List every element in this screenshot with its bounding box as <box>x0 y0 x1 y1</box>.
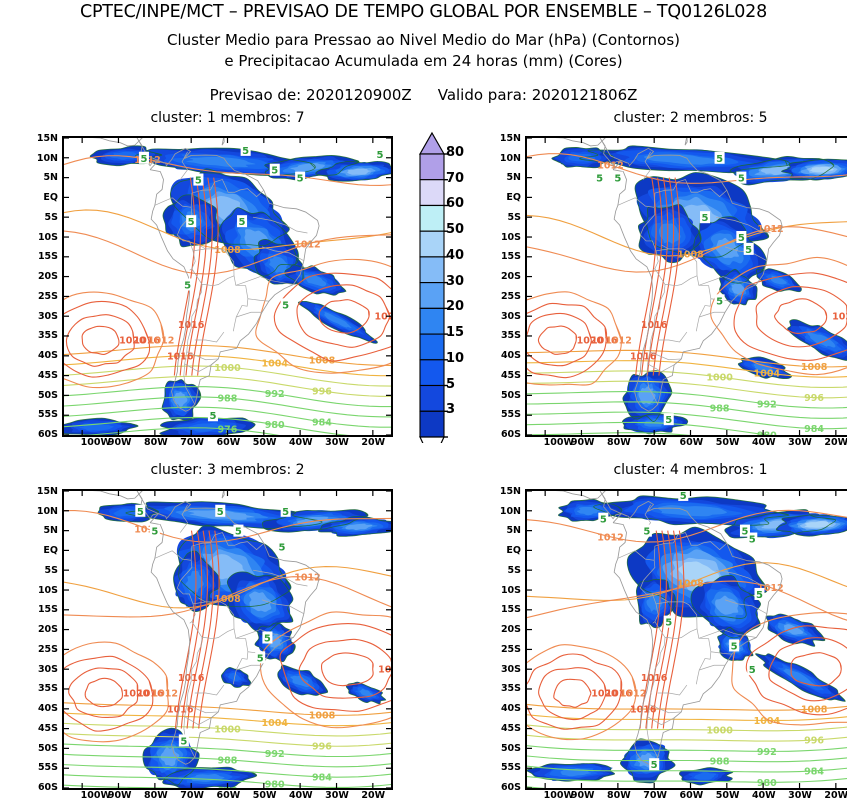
y-tick-label: 10S <box>501 586 521 595</box>
svg-text:1000: 1000 <box>706 373 733 384</box>
svg-text:5: 5 <box>297 174 304 185</box>
x-tick-label: 60W <box>680 791 704 800</box>
x-tick-label: 70W <box>643 791 667 800</box>
svg-text:984: 984 <box>804 424 824 435</box>
svg-text:1012: 1012 <box>620 688 646 699</box>
x-tick-label: 30W <box>325 791 349 800</box>
svg-text:5: 5 <box>749 535 756 546</box>
svg-text:980: 980 <box>757 430 777 435</box>
x-tick-label: 40W <box>752 438 776 447</box>
map-canvas-3: 9769809849889929961000100410081020101610… <box>64 491 391 788</box>
y-tick-label: 5N <box>43 173 58 182</box>
svg-text:5: 5 <box>749 665 756 676</box>
svg-text:1008: 1008 <box>801 362 828 373</box>
svg-text:1008: 1008 <box>309 711 336 722</box>
y-tick-label: 20S <box>38 272 58 281</box>
map-panel-cluster-2[interactable]: 9769809849889929961000100410081020101610… <box>525 136 847 437</box>
svg-text:988: 988 <box>218 394 238 405</box>
y-tick-label: 5S <box>45 213 58 222</box>
y-tick-label: 30S <box>38 312 58 321</box>
y-tick-label: 50S <box>38 744 58 753</box>
page-title: CPTEC/INPE/MCT – PREVISAO DE TEMPO GLOBA… <box>0 2 847 22</box>
y-tick-label: 15S <box>501 605 521 614</box>
y-tick-label: 60S <box>38 783 58 792</box>
y-tick-label: 60S <box>38 430 58 439</box>
svg-text:1012: 1012 <box>294 240 320 251</box>
svg-text:5: 5 <box>184 281 191 292</box>
x-tick-label: 70W <box>180 438 204 447</box>
y-tick-label: 10S <box>501 233 521 242</box>
colorbar-tick-label: 40 <box>446 250 464 262</box>
svg-text:5: 5 <box>702 213 709 224</box>
y-tick-label: 35S <box>38 331 58 340</box>
y-tick-label: 40S <box>38 704 58 713</box>
colorbar-tick-label: 15 <box>446 327 464 339</box>
svg-text:992: 992 <box>757 747 777 758</box>
x-tick-label: 90W <box>571 438 595 447</box>
y-tick-label: 45S <box>38 724 58 733</box>
panel-title-cluster-2: cluster: 2 membros: 5 <box>525 110 847 126</box>
y-tick-label: 30S <box>501 312 521 321</box>
x-tick-label: 100W <box>544 791 574 800</box>
svg-text:5: 5 <box>643 527 650 538</box>
svg-text:988: 988 <box>710 403 730 414</box>
svg-text:5: 5 <box>665 618 672 629</box>
y-tick-label: 45S <box>38 371 58 380</box>
svg-text:5: 5 <box>377 150 384 161</box>
y-tick-label: 45S <box>501 371 521 380</box>
colorbar-tick-label: 10 <box>446 353 464 365</box>
colorbar-tick-label: 50 <box>446 224 464 236</box>
x-axis-labels-panel-1: 100W90W80W70W60W50W40W30W20W <box>62 438 393 452</box>
svg-text:1020: 1020 <box>832 312 847 323</box>
x-tick-label: 50W <box>716 438 740 447</box>
svg-text:5: 5 <box>614 174 621 185</box>
y-tick-label: 5S <box>508 213 521 222</box>
svg-text:5: 5 <box>195 176 202 187</box>
x-axis-labels-panel-2: 100W90W80W70W60W50W40W30W20W <box>525 438 847 452</box>
svg-text:5: 5 <box>278 542 285 553</box>
y-tick-label: 50S <box>501 744 521 753</box>
svg-text:5: 5 <box>271 166 278 177</box>
y-tick-label: 20S <box>38 625 58 634</box>
svg-text:5: 5 <box>680 491 687 502</box>
y-tick-label: 10N <box>37 154 58 163</box>
svg-text:996: 996 <box>804 736 824 747</box>
svg-text:1020: 1020 <box>378 665 391 676</box>
y-tick-label: 40S <box>38 351 58 360</box>
y-tick-label: EQ <box>506 546 521 555</box>
svg-text:1012: 1012 <box>294 573 320 584</box>
y-tick-label: 55S <box>501 410 521 419</box>
x-tick-label: 80W <box>144 438 168 447</box>
svg-text:5: 5 <box>716 154 723 165</box>
colorbar-tick-label: 60 <box>446 198 464 210</box>
map-panel-cluster-1[interactable]: 9769809849889929961000100410081020101610… <box>62 136 393 437</box>
svg-text:1012: 1012 <box>148 335 174 346</box>
subtitle-line-2: e Precipitacao Acumulada em 24 horas (mm… <box>0 52 847 70</box>
x-tick-label: 60W <box>217 791 241 800</box>
svg-text:996: 996 <box>312 741 332 752</box>
x-tick-label: 50W <box>253 438 277 447</box>
colorbar-tick-label: 20 <box>446 301 464 313</box>
svg-text:5: 5 <box>140 154 147 165</box>
svg-text:5: 5 <box>235 527 242 538</box>
svg-text:988: 988 <box>710 757 730 768</box>
x-tick-label: 90W <box>571 791 595 800</box>
svg-text:5: 5 <box>257 653 264 664</box>
x-tick-label: 20W <box>361 438 385 447</box>
y-tick-label: 20S <box>501 272 521 281</box>
svg-text:992: 992 <box>757 399 777 410</box>
svg-text:984: 984 <box>804 766 824 777</box>
y-tick-label: 55S <box>501 763 521 772</box>
svg-text:5: 5 <box>282 300 289 311</box>
x-tick-label: 40W <box>289 438 313 447</box>
x-tick-label: 30W <box>788 438 812 447</box>
svg-text:1004: 1004 <box>754 369 781 380</box>
subtitle-line-1: Cluster Medio para Pressao ao Nivel Medi… <box>0 31 847 49</box>
svg-text:988: 988 <box>218 755 238 766</box>
colorbar-tick-label: 5 <box>446 379 455 391</box>
x-tick-label: 40W <box>289 791 313 800</box>
map-panel-cluster-3[interactable]: 9769809849889929961000100410081020101610… <box>62 489 393 790</box>
y-tick-label: 60S <box>501 783 521 792</box>
svg-text:996: 996 <box>312 386 332 397</box>
svg-text:1020: 1020 <box>375 312 391 323</box>
svg-text:992: 992 <box>265 389 285 400</box>
x-tick-label: 80W <box>607 438 631 447</box>
svg-text:996: 996 <box>804 393 824 404</box>
svg-text:984: 984 <box>312 417 332 428</box>
y-tick-label: 60S <box>501 430 521 439</box>
svg-text:5: 5 <box>180 736 187 747</box>
y-tick-label: 5S <box>508 566 521 575</box>
y-tick-label: 10S <box>38 233 58 242</box>
y-tick-label: 5N <box>506 173 521 182</box>
y-tick-label: 45S <box>501 724 521 733</box>
y-tick-label: 10N <box>500 154 521 163</box>
x-tick-label: 40W <box>752 791 776 800</box>
y-tick-label: 50S <box>501 391 521 400</box>
y-tick-label: 5S <box>45 566 58 575</box>
x-tick-label: 30W <box>325 438 349 447</box>
y-axis-labels-panel-4: 15N10N5NEQ5S10S15S20S25S30S35S40S45S50S5… <box>485 489 521 790</box>
x-tick-label: 70W <box>180 791 204 800</box>
x-tick-label: 50W <box>253 791 277 800</box>
x-tick-label: 100W <box>81 438 111 447</box>
y-tick-label: 35S <box>38 684 58 693</box>
panel-title-cluster-3: cluster: 3 membros: 2 <box>62 462 393 478</box>
x-tick-label: 70W <box>643 438 667 447</box>
svg-text:980: 980 <box>265 780 285 788</box>
x-tick-label: 80W <box>607 791 631 800</box>
svg-text:1008: 1008 <box>677 250 704 261</box>
x-tick-label: 90W <box>108 438 132 447</box>
map-panel-cluster-4[interactable]: 9769809849889929961000100410081020101610… <box>525 489 847 790</box>
y-tick-label: 25S <box>501 292 521 301</box>
svg-text:5: 5 <box>738 174 745 185</box>
x-tick-label: 50W <box>716 791 740 800</box>
y-tick-label: 15S <box>38 252 58 261</box>
x-tick-label: 100W <box>81 791 111 800</box>
x-tick-label: 60W <box>680 438 704 447</box>
y-tick-label: 30S <box>501 665 521 674</box>
panel-title-cluster-4: cluster: 4 membros: 1 <box>525 462 847 478</box>
forecast-from-label: Previsao de: 2020120900Z <box>210 86 412 104</box>
y-tick-label: 55S <box>38 410 58 419</box>
y-tick-label: 55S <box>38 763 58 772</box>
map-canvas-4: 9769809849889929961000100410081020101610… <box>527 491 847 788</box>
x-tick-label: 80W <box>144 791 168 800</box>
svg-text:5: 5 <box>738 233 745 244</box>
svg-text:5: 5 <box>745 245 752 256</box>
y-tick-label: 40S <box>501 351 521 360</box>
y-axis-labels-panel-1: 15N10N5NEQ5S10S15S20S25S30S35S40S45S50S5… <box>22 136 58 437</box>
svg-text:5: 5 <box>756 590 763 601</box>
map-canvas-1: 9769809849889929961000100410081020101610… <box>64 138 391 435</box>
y-tick-label: 5N <box>506 526 521 535</box>
svg-text:1000: 1000 <box>706 726 733 737</box>
y-axis-labels-panel-2: 15N10N5NEQ5S10S15S20S25S30S35S40S45S50S5… <box>485 136 521 437</box>
colorbar-tick-label: 30 <box>446 276 464 288</box>
y-tick-label: 15N <box>500 487 521 496</box>
y-tick-label: 50S <box>38 391 58 400</box>
forecast-time-line: Previsao de: 2020120900ZValido para: 202… <box>0 86 847 104</box>
map-canvas-2: 9769809849889929961000100410081020101610… <box>527 138 847 435</box>
svg-text:1000: 1000 <box>214 363 241 374</box>
y-tick-label: 35S <box>501 684 521 693</box>
colorbar-tick-label: 3 <box>446 404 455 416</box>
colorbar-tick-label: 80 <box>446 147 464 159</box>
svg-text:1012: 1012 <box>597 532 623 543</box>
svg-text:1012: 1012 <box>151 688 177 699</box>
svg-text:980: 980 <box>265 420 285 431</box>
svg-text:5: 5 <box>151 527 158 538</box>
colorbar-tick-label: 70 <box>446 173 464 185</box>
svg-text:5: 5 <box>665 415 672 426</box>
x-tick-label: 90W <box>108 791 132 800</box>
svg-text:5: 5 <box>264 634 271 645</box>
x-tick-label: 20W <box>824 791 847 800</box>
y-tick-label: 25S <box>38 292 58 301</box>
y-tick-label: EQ <box>43 193 58 202</box>
y-axis-labels-panel-3: 15N10N5NEQ5S10S15S20S25S30S35S40S45S50S5… <box>22 489 58 790</box>
y-tick-label: 15N <box>37 134 58 143</box>
y-tick-label: EQ <box>506 193 521 202</box>
svg-text:980: 980 <box>757 778 777 788</box>
svg-text:5: 5 <box>596 174 603 185</box>
svg-text:984: 984 <box>312 772 332 783</box>
y-tick-label: EQ <box>43 546 58 555</box>
svg-text:5: 5 <box>217 507 224 518</box>
x-tick-label: 20W <box>361 791 385 800</box>
svg-text:5: 5 <box>137 507 144 518</box>
y-tick-label: 15N <box>37 487 58 496</box>
svg-text:5: 5 <box>600 515 607 526</box>
x-tick-label: 60W <box>217 438 241 447</box>
svg-text:1004: 1004 <box>754 716 781 727</box>
panel-title-cluster-1: cluster: 1 membros: 7 <box>62 110 393 126</box>
svg-text:992: 992 <box>265 749 285 760</box>
svg-text:1004: 1004 <box>262 718 289 729</box>
x-tick-label: 100W <box>544 438 574 447</box>
y-tick-label: 25S <box>38 645 58 654</box>
y-tick-label: 15S <box>501 252 521 261</box>
x-tick-label: 30W <box>788 791 812 800</box>
y-tick-label: 10S <box>38 586 58 595</box>
svg-text:1004: 1004 <box>262 358 289 369</box>
svg-text:1000: 1000 <box>214 724 241 735</box>
y-tick-label: 25S <box>501 645 521 654</box>
y-tick-label: 5N <box>43 526 58 535</box>
y-tick-label: 35S <box>501 331 521 340</box>
svg-text:5: 5 <box>716 296 723 307</box>
valid-for-label: Valido para: 2020121806Z <box>438 86 638 104</box>
y-tick-label: 15S <box>38 605 58 614</box>
svg-text:5: 5 <box>242 146 249 157</box>
svg-text:5: 5 <box>731 641 738 652</box>
svg-text:5: 5 <box>651 760 658 771</box>
svg-text:5: 5 <box>188 217 195 228</box>
x-tick-label: 20W <box>824 438 847 447</box>
svg-text:5: 5 <box>282 507 289 518</box>
y-tick-label: 10N <box>500 507 521 516</box>
svg-text:5: 5 <box>239 217 246 228</box>
y-tick-label: 15N <box>500 134 521 143</box>
svg-text:1012: 1012 <box>605 335 631 346</box>
y-tick-label: 20S <box>501 625 521 634</box>
y-tick-label: 30S <box>38 665 58 674</box>
y-tick-label: 40S <box>501 704 521 713</box>
svg-text:5: 5 <box>209 411 216 422</box>
y-tick-label: 10N <box>37 507 58 516</box>
